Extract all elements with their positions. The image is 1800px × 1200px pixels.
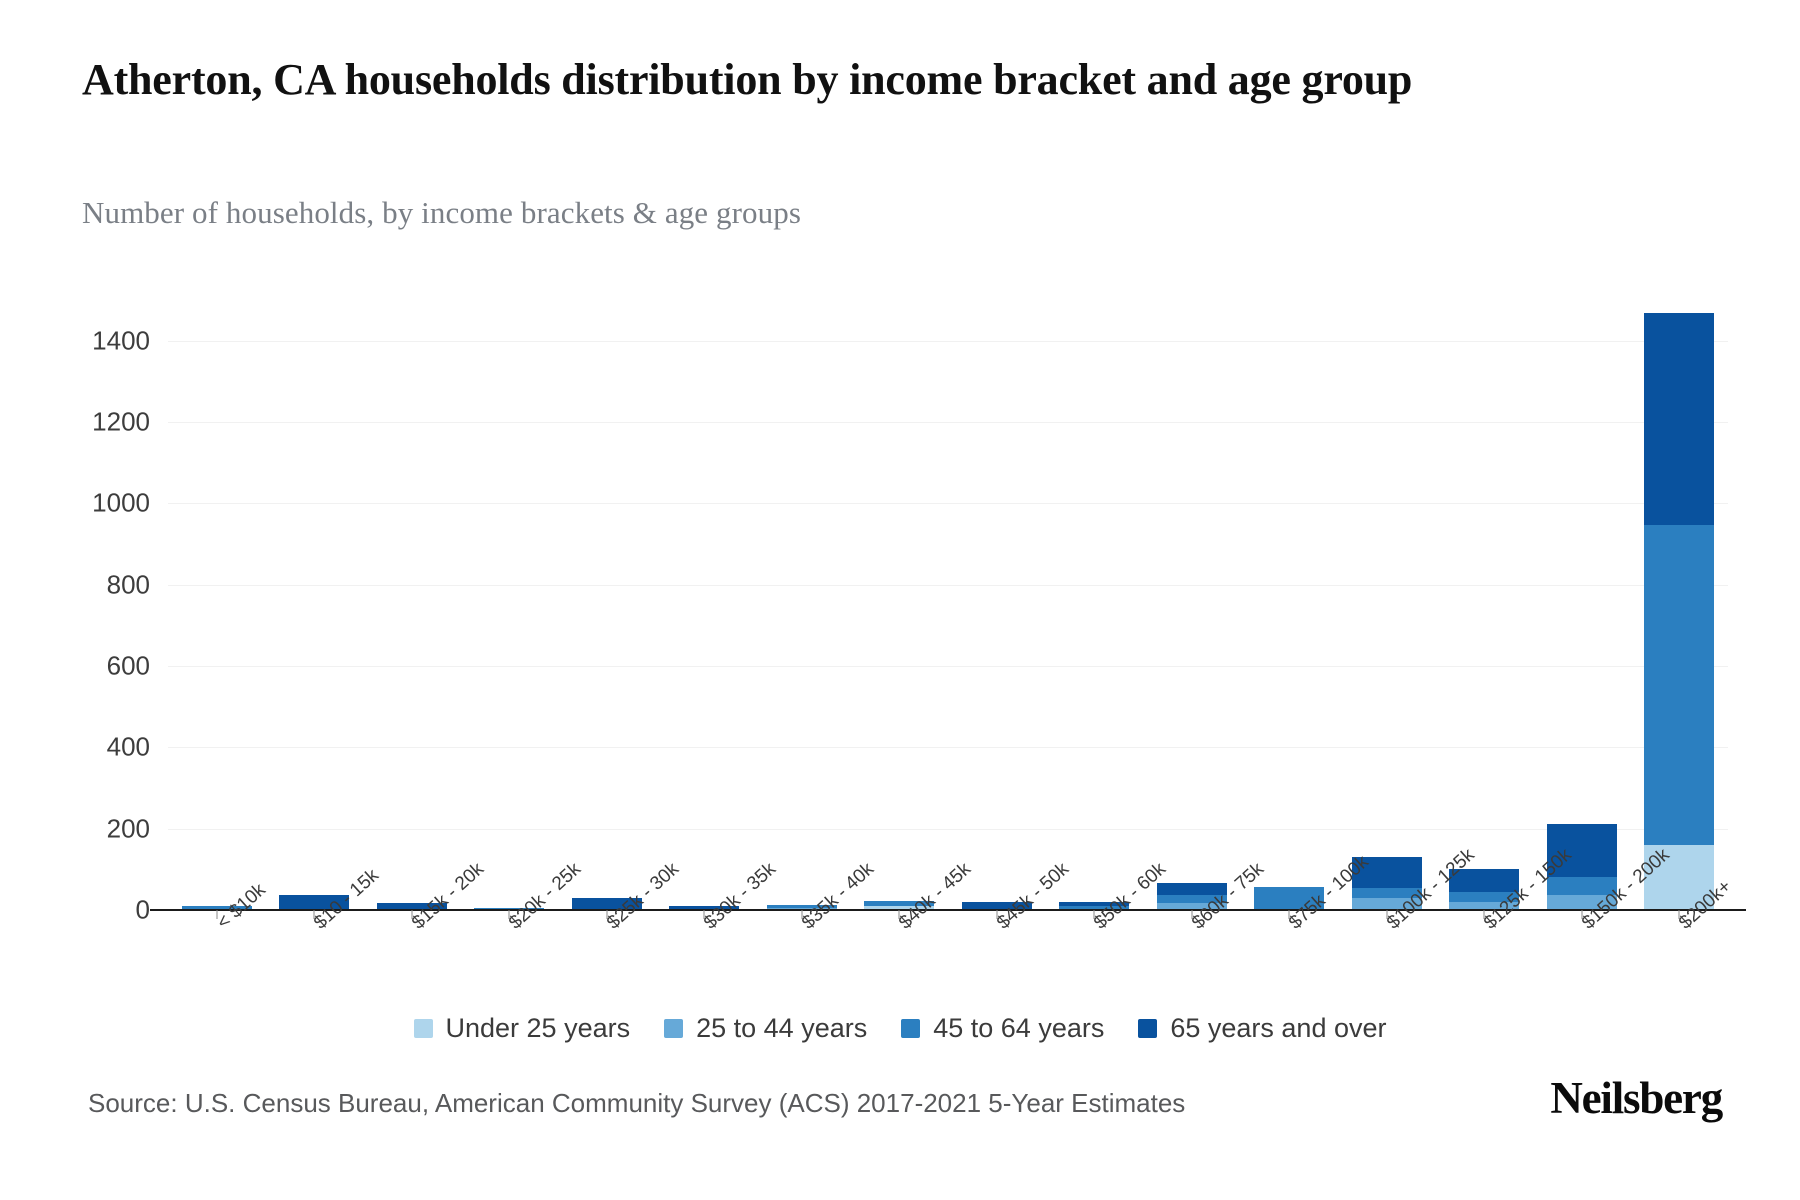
legend-label: 45 to 64 years — [933, 1013, 1104, 1044]
legend-item-4[interactable]: 65 years and over — [1138, 1013, 1386, 1044]
x-tick-label: $35k - 40k — [798, 859, 879, 935]
page-title: Atherton, CA households distribution by … — [82, 52, 1642, 108]
x-tick-label: $15k - 20k — [408, 859, 489, 935]
source-note: Source: U.S. Census Bureau, American Com… — [88, 1088, 1185, 1119]
gridline — [168, 503, 1728, 504]
y-tick-label: 600 — [107, 651, 150, 682]
legend-swatch-icon — [664, 1019, 683, 1038]
x-tick-label: $30k - 35k — [700, 859, 781, 935]
legend-label: Under 25 years — [446, 1013, 631, 1044]
legend-label: 25 to 44 years — [696, 1013, 867, 1044]
y-tick-label: 200 — [107, 813, 150, 844]
bar-segment[interactable] — [1644, 525, 1714, 845]
legend-swatch-icon — [1138, 1019, 1157, 1038]
y-tick-label: 400 — [107, 732, 150, 763]
x-tick-label: $40k - 45k — [895, 859, 976, 935]
legend-swatch-icon — [901, 1019, 920, 1038]
gridline — [168, 666, 1728, 667]
legend: Under 25 years25 to 44 years45 to 64 yea… — [0, 1013, 1800, 1044]
y-tick-label: 1200 — [92, 407, 150, 438]
legend-swatch-icon — [414, 1019, 433, 1038]
chart-page: Atherton, CA households distribution by … — [0, 0, 1800, 1200]
x-tick-label: $45k - 50k — [993, 859, 1074, 935]
legend-item-3[interactable]: 45 to 64 years — [901, 1013, 1104, 1044]
legend-label: 65 years and over — [1170, 1013, 1386, 1044]
y-tick-label: 0 — [136, 895, 150, 926]
gridline — [168, 585, 1728, 586]
plot-area: 0200400600800100012001400 < $10k$10 - 15… — [168, 300, 1728, 910]
y-tick-label: 1400 — [92, 325, 150, 356]
gridline — [168, 747, 1728, 748]
gridline — [168, 422, 1728, 423]
bar-stack[interactable] — [1644, 313, 1714, 910]
gridline — [168, 341, 1728, 342]
legend-item-2[interactable]: 25 to 44 years — [664, 1013, 867, 1044]
gridline — [168, 829, 1728, 830]
brand-logo: Neilsberg — [1550, 1072, 1722, 1124]
x-tick-label: $20k - 25k — [505, 859, 586, 935]
x-tick-label: $25k - 30k — [603, 859, 684, 935]
y-tick-label: 1000 — [92, 488, 150, 519]
bar-segment[interactable] — [1644, 313, 1714, 524]
x-axis-tick-labels: < $10k$10 - 15k$15k - 20k$20k - 25k$25k … — [168, 300, 1728, 301]
chart-subtitle: Number of households, by income brackets… — [82, 195, 1482, 231]
legend-item-1[interactable]: Under 25 years — [414, 1013, 631, 1044]
y-tick-label: 800 — [107, 569, 150, 600]
